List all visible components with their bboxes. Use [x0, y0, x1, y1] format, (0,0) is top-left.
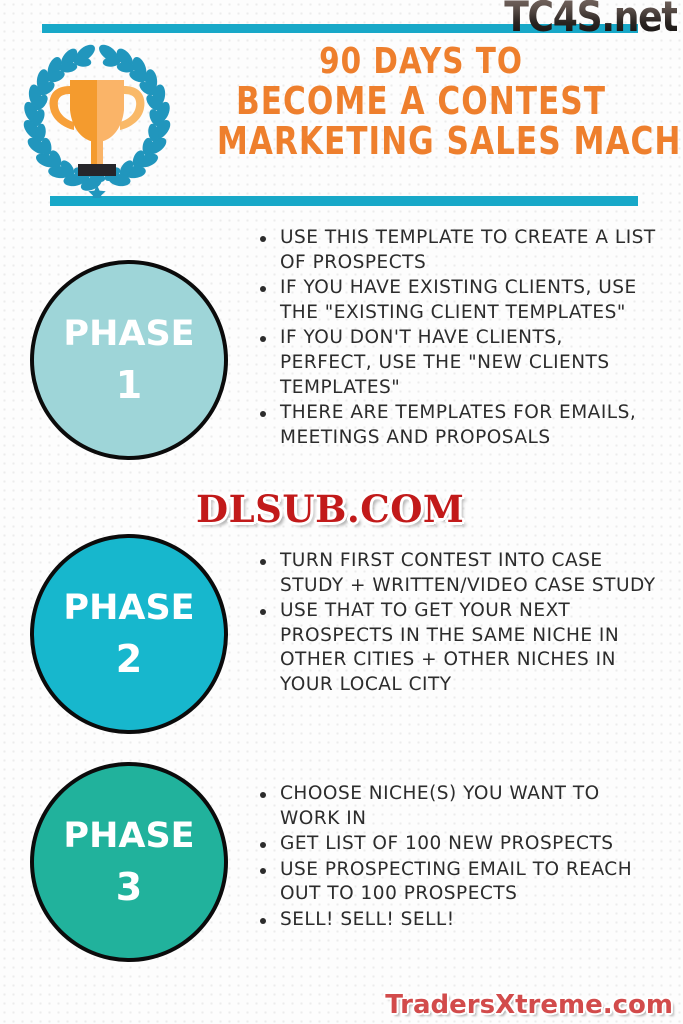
phase-bullets-3: CHOOSE NICHE(S) YOU WANT TO WORK IN GET … — [258, 738, 683, 934]
list-item: IF YOU HAVE EXISTING CLIENTS, USE THE "E… — [258, 276, 661, 325]
list-item: GET LIST OF 100 NEW PROSPECTS — [258, 832, 661, 857]
list-item: USE THAT TO GET YOUR NEXT PROSPECTS IN T… — [258, 599, 661, 697]
phase-number: 1 — [116, 366, 142, 404]
bullet-list: USE THIS TEMPLATE TO CREATE A LIST OF PR… — [258, 226, 661, 450]
phase-bullets-2: TURN FIRST CONTEST INTO CASE STUDY + WRI… — [258, 508, 683, 699]
list-item: USE THIS TEMPLATE TO CREATE A LIST OF PR… — [258, 226, 661, 275]
brand-logo: TC4S.net — [504, 0, 677, 38]
bullet-list: TURN FIRST CONTEST INTO CASE STUDY + WRI… — [258, 549, 661, 698]
phase-number: 2 — [116, 640, 142, 678]
phase-circle-wrap: PHASE 1 — [0, 218, 258, 460]
phase-badge-2[interactable]: PHASE 2 — [30, 534, 228, 734]
list-item: IF YOU DON'T HAVE CLIENTS, PERFECT, USE … — [258, 326, 661, 400]
title-line-2: BECOME A CONTEST — [217, 83, 625, 121]
list-item: TURN FIRST CONTEST INTO CASE STUDY + WRI… — [258, 549, 661, 598]
list-item: CHOOSE NICHE(S) YOU WANT TO WORK IN — [258, 782, 661, 831]
trophy-laurel-icon — [14, 38, 180, 198]
phase-bullets-1: USE THIS TEMPLATE TO CREATE A LIST OF PR… — [258, 218, 683, 451]
phase-row: PHASE 2 TURN FIRST CONTEST INTO CASE STU… — [0, 508, 683, 738]
bullet-list: CHOOSE NICHE(S) YOU WANT TO WORK IN GET … — [258, 782, 661, 933]
list-item: USE PROSPECTING EMAIL TO REACH OUT TO 10… — [258, 858, 661, 907]
phase-row: PHASE 3 CHOOSE NICHE(S) YOU WANT TO WORK… — [0, 738, 683, 978]
phase-list: PHASE 1 USE THIS TEMPLATE TO CREATE A LI… — [0, 218, 683, 978]
infographic-header: TC4S.net — [0, 0, 683, 218]
page-title: 90 DAYS TO BECOME A CONTEST MARKETING SA… — [172, 44, 670, 161]
phase-circle-wrap: PHASE 2 — [0, 508, 258, 734]
title-line-1: 90 DAYS TO — [217, 44, 625, 80]
list-item: SELL! SELL! SELL! — [258, 908, 661, 933]
phase-row: PHASE 1 USE THIS TEMPLATE TO CREATE A LI… — [0, 218, 683, 508]
phase-badge-1[interactable]: PHASE 1 — [30, 260, 228, 460]
list-item: THERE ARE TEMPLATES FOR EMAILS, MEETINGS… — [258, 401, 661, 450]
phase-label: PHASE — [63, 591, 194, 626]
title-line-3: MARKETING SALES MACHINE — [217, 123, 625, 161]
phase-badge-3[interactable]: PHASE 3 — [30, 762, 228, 962]
phase-label: PHASE — [63, 317, 194, 352]
phase-circle-wrap: PHASE 3 — [0, 738, 258, 962]
phase-label: PHASE — [63, 819, 194, 854]
phase-number: 3 — [116, 868, 142, 906]
watermark-footer: TradersXtreme.com — [385, 990, 673, 1020]
